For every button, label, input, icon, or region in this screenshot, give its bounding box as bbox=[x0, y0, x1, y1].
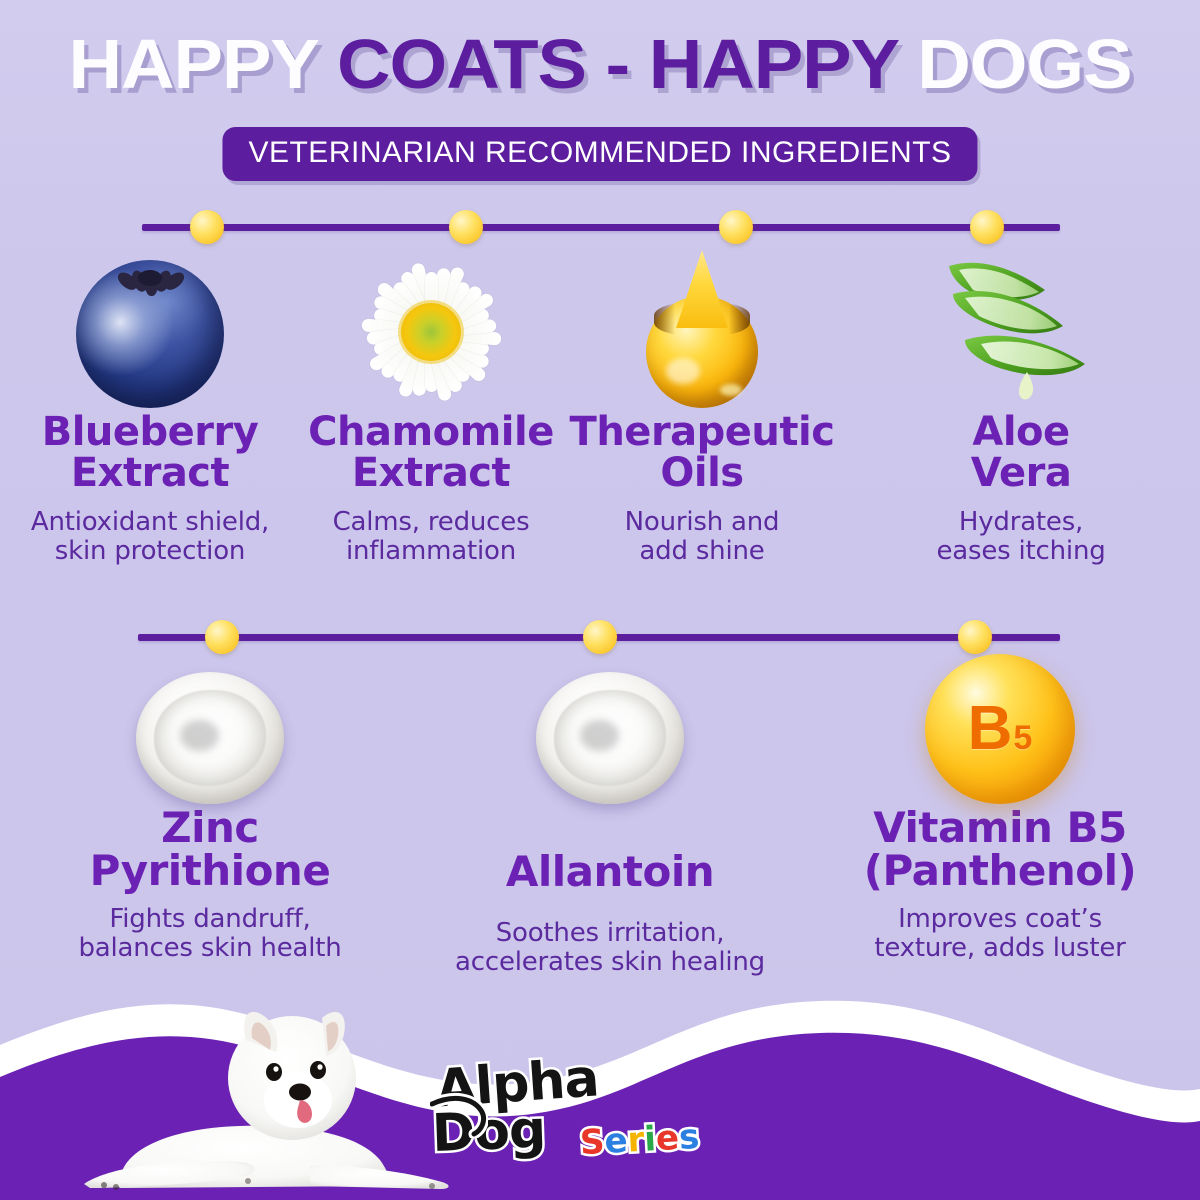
brand-logo-series: Series bbox=[579, 1117, 700, 1163]
title-part-1: HAPPY bbox=[68, 25, 337, 103]
ingredient-card-zinc-pyrithione: Zinc Pyrithione Fights dandruff, balance… bbox=[0, 622, 420, 1002]
aloe-vera-icon bbox=[941, 236, 1101, 408]
logo-tail-swoosh bbox=[430, 1090, 488, 1138]
blueberry-icon bbox=[76, 248, 224, 408]
ingredient-description: Antioxidant shield, skin protection bbox=[31, 508, 269, 566]
powder-bowl-icon bbox=[536, 664, 684, 804]
ingredient-description: Improves coat’s texture, adds luster bbox=[874, 905, 1125, 963]
ingredient-row-2: Zinc Pyrithione Fights dandruff, balance… bbox=[0, 622, 1200, 1002]
ingredient-name: Blueberry Extract bbox=[42, 412, 259, 494]
powder-bowl-icon bbox=[136, 664, 284, 804]
ingredient-name: Vitamin B5 (Panthenol) bbox=[864, 806, 1136, 893]
title-part-2: COATS - HAPPY bbox=[337, 25, 917, 103]
ingredient-name: Zinc Pyrithione bbox=[90, 806, 331, 893]
ingredient-description: Hydrates, eases itching bbox=[936, 508, 1105, 566]
ingredient-card-vitamin-b5: B5 Vitamin B5 (Panthenol) Improves coat’… bbox=[800, 622, 1200, 1002]
ingredient-card-chamomile: Chamomile Extract Calms, reduces inflamm… bbox=[300, 212, 562, 602]
logo-series-letter: S bbox=[579, 1122, 606, 1163]
page-title: HAPPY COATS - HAPPY DOGS bbox=[0, 24, 1200, 104]
ingredient-card-blueberry: Blueberry Extract Antioxidant shield, sk… bbox=[0, 212, 300, 602]
brand-logo: Alpha Dog Series bbox=[430, 1054, 760, 1170]
samoyed-puppy-photo bbox=[60, 1000, 480, 1200]
ingredient-description: Nourish and add shine bbox=[625, 508, 780, 566]
orb-label-main: B bbox=[968, 698, 1013, 760]
ingredient-card-allantoin: Allantoin Soothes irritation, accelerate… bbox=[420, 622, 800, 1002]
title-part-3: DOGS bbox=[917, 25, 1131, 103]
logo-series-letter: e bbox=[655, 1118, 680, 1159]
oil-droplet-icon bbox=[646, 240, 758, 408]
ingredient-description: Soothes irritation, accelerates skin hea… bbox=[455, 919, 765, 977]
ingredient-description: Calms, reduces inflammation bbox=[333, 508, 530, 566]
badge-label: VETERINARIAN RECOMMENDED INGREDIENTS bbox=[248, 136, 951, 170]
ingredient-name: Chamomile Extract bbox=[308, 412, 554, 494]
logo-series-letter: s bbox=[678, 1117, 700, 1158]
logo-series-letter: e bbox=[604, 1121, 629, 1162]
ingredient-name: Allantoin bbox=[506, 850, 714, 893]
ingredient-row-1: Blueberry Extract Antioxidant shield, sk… bbox=[0, 212, 1200, 602]
infographic-page: HAPPY COATS - HAPPY DOGS VETERINARIAN RE… bbox=[0, 0, 1200, 1200]
ingredient-card-aloe-vera: Aloe Vera Hydrates, eases itching bbox=[842, 212, 1200, 602]
ingredient-description: Fights dandruff, balances skin health bbox=[78, 905, 341, 963]
ingredient-name: Therapeutic Oils bbox=[570, 412, 835, 494]
orb-label-sub: 5 bbox=[1013, 721, 1032, 755]
footer-band: Alpha Dog Series bbox=[0, 985, 1200, 1200]
ingredient-card-therapeutic-oils: Therapeutic Oils Nourish and add shine bbox=[562, 212, 842, 602]
ingredient-name: Aloe Vera bbox=[971, 412, 1072, 494]
vitamin-b5-orb-icon: B5 bbox=[925, 656, 1075, 804]
chamomile-flower-icon bbox=[351, 242, 511, 408]
vet-recommended-badge: VETERINARIAN RECOMMENDED INGREDIENTS bbox=[222, 127, 977, 181]
